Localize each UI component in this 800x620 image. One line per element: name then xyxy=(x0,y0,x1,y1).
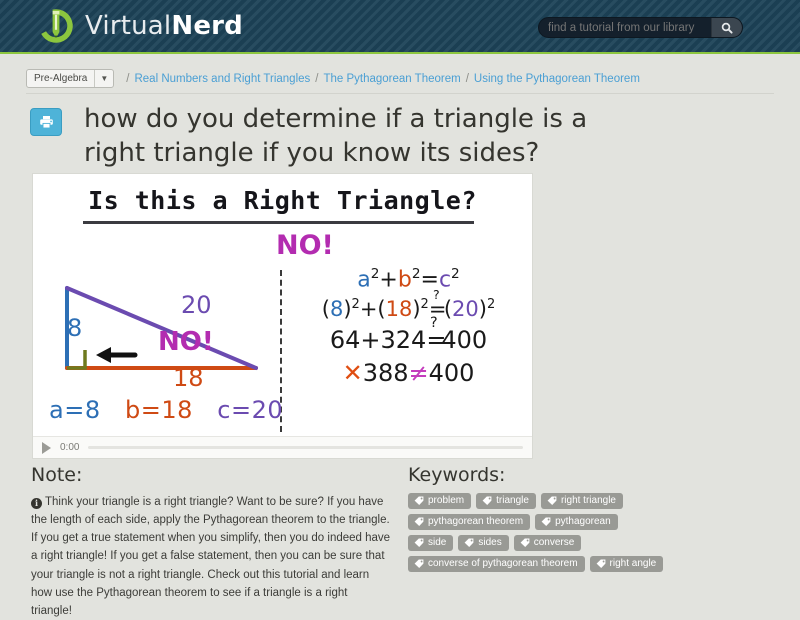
breadcrumb-separator: / xyxy=(315,73,318,85)
tag-icon xyxy=(596,559,606,569)
leg-b-label: 18 xyxy=(173,364,204,392)
keyword-tag[interactable]: converse of pythagorean theorem xyxy=(408,556,585,572)
keyword-tag[interactable]: sides xyxy=(458,535,508,551)
whiteboard-content: Is this a Right Triangle? NO! 8 20 18 NO… xyxy=(33,174,532,458)
breadcrumb: Pre-Algebra ▼ / Real Numbers and Right T… xyxy=(26,64,774,94)
tag-icon xyxy=(464,538,474,548)
print-button[interactable] xyxy=(30,108,62,136)
equation-line-2: (8)2+(18)2?=(20)2 xyxy=(289,297,528,321)
scrubber-track[interactable] xyxy=(88,446,523,449)
leg-a-label: 8 xyxy=(67,314,82,342)
keyword-tag-label: triangle xyxy=(496,495,529,506)
keyword-tag-label: pythagorean xyxy=(555,516,611,527)
play-icon[interactable] xyxy=(42,442,51,454)
left-arrow-icon xyxy=(96,347,135,363)
keyword-tag-label: right triangle xyxy=(561,495,616,506)
tag-icon xyxy=(541,517,551,527)
keyword-tag[interactable]: right angle xyxy=(590,556,664,572)
keyword-tag[interactable]: side xyxy=(408,535,453,551)
chevron-down-icon: ▼ xyxy=(94,70,113,87)
verdict-label: NO! xyxy=(276,230,334,261)
eq4-right: 400 xyxy=(429,359,475,387)
subject-dropdown[interactable]: Pre-Algebra ▼ xyxy=(26,69,114,88)
annotation-label: NO! xyxy=(158,327,214,357)
note-text: Think your triangle is a right triangle?… xyxy=(31,496,390,617)
eq3-left: 64+324 xyxy=(330,326,426,354)
keyword-tag[interactable]: pythagorean theorem xyxy=(408,514,530,530)
hypotenuse-label: 20 xyxy=(181,291,212,319)
note-body: iThink your triangle is a right triangle… xyxy=(31,493,391,620)
tag-icon xyxy=(414,559,424,569)
title-row: how do you determine if a triangle is a … xyxy=(30,102,650,171)
info-icon: i xyxy=(31,498,42,509)
keyword-tag-label: converse xyxy=(534,537,575,548)
keyword-tag-label: side xyxy=(428,537,446,548)
tag-icon xyxy=(520,538,530,548)
note-heading: Note: xyxy=(31,464,391,486)
search-box[interactable] xyxy=(538,17,743,38)
equation-block: a2+b2=c2 (8)2+(18)2?=(20)2 64+324?=400 ✕… xyxy=(289,266,528,392)
tag-icon xyxy=(547,496,557,506)
eq2-b: 18 xyxy=(386,297,413,321)
board-title-underline xyxy=(83,221,474,224)
legend-b: b=18 xyxy=(125,396,193,424)
player-controls[interactable]: 0:00 xyxy=(33,436,532,458)
keyword-tag-label: right angle xyxy=(610,558,657,569)
note-section: Note: iThink your triangle is a right tr… xyxy=(31,464,391,620)
breadcrumb-item-1[interactable]: The Pythagorean Theorem xyxy=(323,73,460,85)
breadcrumb-separator: / xyxy=(126,73,129,85)
eq1-b: b xyxy=(398,267,412,292)
keyword-tag[interactable]: pythagorean xyxy=(535,514,618,530)
equation-line-1: a2+b2=c2 xyxy=(289,266,528,292)
search-button[interactable] xyxy=(711,17,742,38)
eq2-c: 20 xyxy=(452,297,479,321)
tag-icon xyxy=(482,496,492,506)
keyword-tag-label: problem xyxy=(428,495,464,506)
keywords-section: Keywords: problemtriangleright trianglep… xyxy=(408,464,773,572)
tag-icon xyxy=(414,496,424,506)
eq4-relation: ≠ xyxy=(409,359,429,387)
eq1-a: a xyxy=(357,267,370,292)
brand-text: VirtualNerd xyxy=(85,11,243,41)
breadcrumb-item-2[interactable]: Using the Pythagorean Theorem xyxy=(474,73,640,85)
cross-mark-icon: ✕ xyxy=(343,359,363,387)
search-input[interactable] xyxy=(539,22,711,34)
pencil-power-logo-icon xyxy=(36,6,76,46)
keyword-tag[interactable]: triangle xyxy=(476,493,536,509)
page-title: how do you determine if a triangle is a … xyxy=(84,102,604,171)
video-player[interactable]: Is this a Right Triangle? NO! 8 20 18 NO… xyxy=(33,174,532,458)
site-logo[interactable]: VirtualNerd xyxy=(36,6,243,46)
equation-line-4: ✕388≠400 xyxy=(289,359,528,387)
breadcrumb-item-0[interactable]: Real Numbers and Right Triangles xyxy=(134,73,310,85)
site-header: VirtualNerd xyxy=(0,0,800,54)
tag-icon xyxy=(414,538,424,548)
keyword-tag[interactable]: right triangle xyxy=(541,493,623,509)
keyword-tag[interactable]: problem xyxy=(408,493,471,509)
current-time: 0:00 xyxy=(60,442,79,453)
printer-icon xyxy=(39,115,54,129)
search-icon xyxy=(721,22,733,34)
legend-c: c=20 xyxy=(217,396,283,424)
keywords-heading: Keywords: xyxy=(408,464,773,486)
brand-first: Virtual xyxy=(85,11,171,41)
eq4-left: 388 xyxy=(363,359,409,387)
eq2-a: 8 xyxy=(330,297,343,321)
equation-line-3: 64+324?=400 xyxy=(289,326,528,354)
board-title: Is this a Right Triangle? xyxy=(33,186,532,215)
keyword-tag-label: pythagorean theorem xyxy=(428,516,523,527)
eq3-right: 400 xyxy=(441,326,487,354)
keyword-list: problemtriangleright trianglepythagorean… xyxy=(408,493,668,572)
keyword-tag[interactable]: converse xyxy=(514,535,582,551)
keyword-tag-label: sides xyxy=(478,537,501,548)
keyword-tag-label: converse of pythagorean theorem xyxy=(428,558,578,569)
subject-dropdown-label: Pre-Algebra xyxy=(27,70,94,87)
tag-icon xyxy=(414,517,424,527)
variable-legend: a=8 b=18 c=20 xyxy=(49,396,283,424)
legend-a: a=8 xyxy=(49,396,101,424)
breadcrumb-separator: / xyxy=(466,73,469,85)
brand-second: Nerd xyxy=(171,11,243,41)
